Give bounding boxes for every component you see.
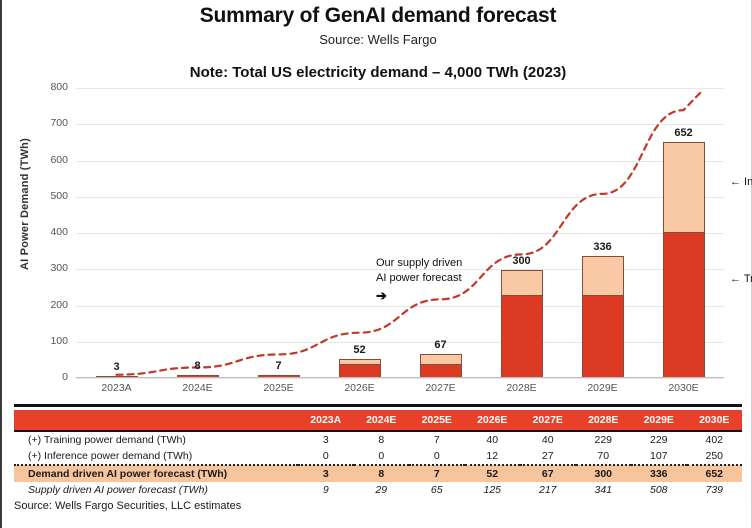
table-cell: 402	[687, 431, 743, 448]
table-header-2023A: 2023A	[298, 410, 354, 431]
x-axis-tick-label: 2026E	[319, 382, 400, 394]
y-axis-tick-label: 400	[24, 226, 68, 238]
y-axis-tick-label: 700	[24, 117, 68, 129]
bar-segment-training[interactable]	[663, 232, 705, 378]
table-header-2027E: 2027E	[520, 410, 576, 431]
supply-annot-line1: Our supply driven	[376, 257, 462, 269]
y-axis-tick-label: 200	[24, 299, 68, 311]
x-axis-tick-label: 2030E	[643, 382, 724, 394]
table-header-2029E: 2029E	[631, 410, 687, 431]
supply-annot-line2: AI power forecast	[376, 272, 462, 284]
bar-value-label: 52	[353, 344, 365, 356]
gridline	[76, 161, 724, 162]
bar-value-label: 7	[275, 360, 281, 372]
table-cell: 29	[354, 482, 410, 498]
table-cell: 65	[409, 482, 465, 498]
bar-stack[interactable]	[501, 270, 543, 378]
inference-legend-annotation: ← Inference	[730, 176, 752, 188]
table-row: (+) Inference power demand (TWh)00012277…	[14, 448, 742, 465]
gridline	[76, 306, 724, 307]
table-header-2030E: 2030E	[687, 410, 743, 431]
table-cell: 0	[354, 448, 410, 465]
x-axis-tick-label: 2024E	[157, 382, 238, 394]
y-axis-tick-label: 600	[24, 154, 68, 166]
table-row-label: (+) Training power demand (TWh)	[14, 431, 298, 448]
table-cell: 9	[298, 482, 354, 498]
gridline	[76, 124, 724, 125]
table-cell: 250	[687, 448, 743, 465]
table-header-2026E: 2026E	[465, 410, 521, 431]
plot-canvas: 0100200300400500600700800 38752673003366…	[76, 88, 724, 378]
y-axis-tick-label: 800	[24, 81, 68, 93]
table-cell: 229	[576, 431, 632, 448]
bar-value-label: 67	[434, 339, 446, 351]
y-axis-tick-label: 100	[24, 335, 68, 347]
table-cell: 107	[631, 448, 687, 465]
bar-stack[interactable]	[420, 354, 462, 378]
bar-value-label: 300	[512, 255, 530, 267]
table-row: (+) Training power demand (TWh)387404022…	[14, 431, 742, 448]
bar-value-label: 652	[674, 127, 692, 139]
table-header-2028E: 2028E	[576, 410, 632, 431]
table-cell: 67	[520, 465, 576, 482]
table-cell: 0	[298, 448, 354, 465]
table-header-2024E: 2024E	[354, 410, 410, 431]
table-cell: 12	[465, 448, 521, 465]
bar-value-label: 3	[113, 361, 119, 373]
table-cell: 341	[576, 482, 632, 498]
forecast-table: 2023A2024E2025E2026E2027E2028E2029E2030E…	[14, 410, 742, 498]
x-axis-tick-label: 2027E	[400, 382, 481, 394]
training-legend-annotation: ← Training	[730, 273, 752, 285]
table-row: Demand driven AI power forecast (TWh)387…	[14, 465, 742, 482]
bar-segment-training[interactable]	[501, 295, 543, 378]
table-row: Supply driven AI power forecast (TWh)929…	[14, 482, 742, 498]
table-row-label: Demand driven AI power forecast (TWh)	[14, 465, 298, 482]
y-axis-tick-label: 300	[24, 262, 68, 274]
plot-area: AI Power Demand (TWh) 010020030040050060…	[2, 88, 752, 398]
table-cell: 52	[465, 465, 521, 482]
bar-stack[interactable]	[582, 256, 624, 378]
chart-source-line: Source: Wells Fargo	[2, 32, 752, 47]
table-cell: 3	[298, 465, 354, 482]
x-axis-tick-label: 2023A	[76, 382, 157, 394]
table-cell: 300	[576, 465, 632, 482]
table-cell: 40	[520, 431, 576, 448]
table-cell: 336	[631, 465, 687, 482]
table-cell: 27	[520, 448, 576, 465]
bar-value-label: 8	[194, 360, 200, 372]
table-cell: 508	[631, 482, 687, 498]
gridline	[76, 88, 724, 89]
bar-value-label: 336	[593, 241, 611, 253]
gridline	[76, 233, 724, 234]
bar-segment-training[interactable]	[420, 364, 462, 379]
x-axis-tick-label: 2028E	[481, 382, 562, 394]
gridline	[76, 342, 724, 343]
gridline	[76, 378, 724, 379]
bar-segment-inference[interactable]	[582, 256, 624, 295]
table-top-rule	[14, 404, 742, 407]
table-cell: 7	[409, 431, 465, 448]
y-axis-tick-label: 0	[24, 371, 68, 383]
table-header-label	[14, 410, 298, 431]
table-body: (+) Training power demand (TWh)387404022…	[14, 431, 742, 498]
table-header-row: 2023A2024E2025E2026E2027E2028E2029E2030E	[14, 410, 742, 431]
table-cell: 0	[409, 448, 465, 465]
table-cell: 739	[687, 482, 743, 498]
table-cell: 217	[520, 482, 576, 498]
x-axis-line	[76, 377, 724, 378]
table-cell: 652	[687, 465, 743, 482]
chart-page: Summary of GenAI demand forecast Source:…	[0, 0, 752, 528]
table-cell: 8	[354, 465, 410, 482]
page-title: Summary of GenAI demand forecast	[2, 4, 752, 28]
table-cell: 8	[354, 431, 410, 448]
bar-stack[interactable]	[339, 359, 381, 378]
y-axis-tick-label: 500	[24, 190, 68, 202]
x-axis-tick-label: 2029E	[562, 382, 643, 394]
supply-annot-arrow-icon: ➔	[376, 287, 462, 305]
supply-forecast-annotation: Our supply driven AI power forecast ➔	[376, 256, 462, 304]
x-axis-tick-label: 2025E	[238, 382, 319, 394]
data-table-block: 2023A2024E2025E2026E2027E2028E2029E2030E…	[14, 404, 742, 512]
bar-segment-training[interactable]	[339, 364, 381, 379]
bar-segment-inference[interactable]	[420, 354, 462, 364]
table-cell: 40	[465, 431, 521, 448]
table-header-2025E: 2025E	[409, 410, 465, 431]
table-row-label: Supply driven AI power forecast (TWh)	[14, 482, 298, 498]
table-cell: 229	[631, 431, 687, 448]
table-cell: 3	[298, 431, 354, 448]
gridline	[76, 197, 724, 198]
table-source-note: Source: Wells Fargo Securities, LLC esti…	[14, 498, 742, 512]
table-cell: 70	[576, 448, 632, 465]
bar-segment-inference[interactable]	[663, 142, 705, 233]
bar-stack[interactable]	[663, 142, 705, 378]
table-cell: 7	[409, 465, 465, 482]
bar-segment-inference[interactable]	[501, 270, 543, 295]
table-row-label: (+) Inference power demand (TWh)	[14, 448, 298, 465]
table-cell: 125	[465, 482, 521, 498]
chart-note: Note: Total US electricity demand – 4,00…	[2, 64, 752, 81]
title-block: Summary of GenAI demand forecast Source:…	[2, 4, 752, 47]
bar-segment-training[interactable]	[582, 295, 624, 378]
